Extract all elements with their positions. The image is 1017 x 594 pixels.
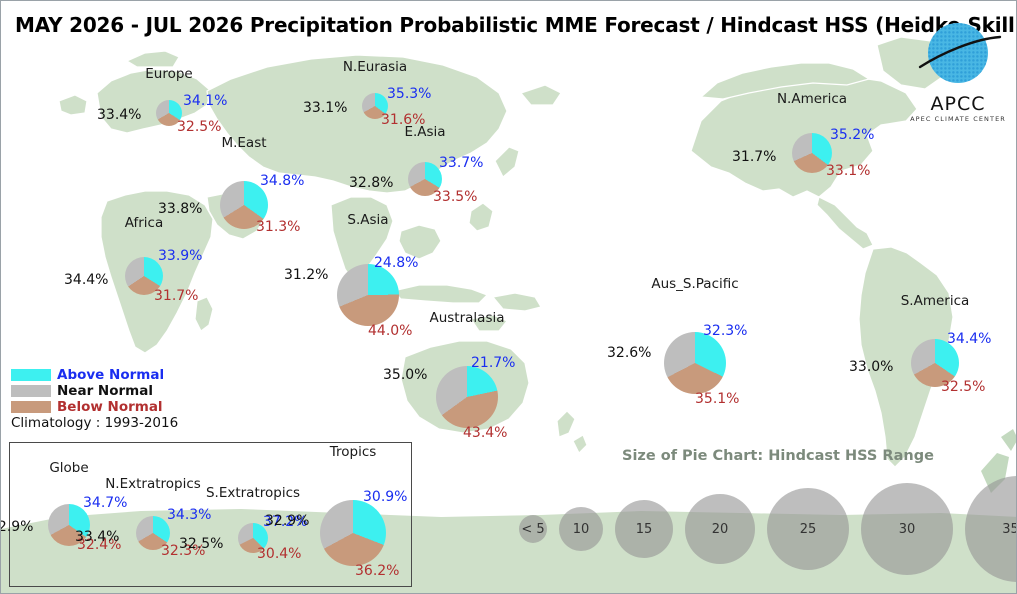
value-near-n_extratropics: 33.4%	[75, 529, 119, 545]
value-below-australasia: 43.4%	[463, 425, 507, 441]
size-scale-label-1: 10	[573, 522, 590, 537]
region-pie-africa[interactable]: Africa33.9%34.4%31.7%	[125, 257, 163, 295]
size-scale-label-6: 35 ≤	[1002, 522, 1017, 537]
value-near-n_america: 31.7%	[732, 149, 776, 165]
value-near-s_extratropics: 32.5%	[179, 536, 223, 552]
legend-label-near: Near Normal	[57, 383, 153, 399]
pie-australasia	[436, 366, 498, 428]
region-pie-e_asia[interactable]: E.Asia33.7%32.8%33.5%	[408, 162, 442, 196]
value-below-europe: 32.5%	[177, 119, 221, 135]
size-scale-circle-1: 10	[559, 507, 603, 551]
region-label-globe: Globe	[49, 460, 88, 476]
legend-row-above: Above Normal	[11, 367, 178, 382]
apcc-logo-wordmark: APCC	[908, 93, 1008, 115]
apcc-globe-icon	[908, 19, 1008, 91]
region-pie-tropics[interactable]: Tropics30.9%32.9%36.2%	[320, 500, 386, 566]
value-near-globe: 32.9%	[0, 519, 33, 535]
value-near-africa: 34.4%	[64, 272, 108, 288]
region-label-n_eurasia: N.Eurasia	[343, 59, 407, 75]
value-above-n_eurasia: 35.3%	[387, 86, 431, 102]
value-above-australasia: 21.7%	[471, 355, 515, 371]
region-pie-n_eurasia[interactable]: N.Eurasia35.3%33.1%31.6%	[362, 93, 388, 119]
value-near-e_asia: 32.8%	[349, 175, 393, 191]
region-pie-australasia[interactable]: Australasia21.7%35.0%43.4%	[436, 366, 498, 428]
legend-row-near: Near Normal	[11, 383, 178, 398]
legend-row-below: Below Normal	[11, 399, 178, 414]
region-label-australasia: Australasia	[429, 310, 504, 326]
value-near-n_eurasia: 33.1%	[303, 100, 347, 116]
value-near-europe: 33.4%	[97, 107, 141, 123]
apcc-logo-subtitle: APEC CLIMATE CENTER	[908, 115, 1008, 123]
value-below-s_asia: 44.0%	[368, 323, 412, 339]
value-near-australasia: 35.0%	[383, 367, 427, 383]
size-scale-label-3: 20	[712, 522, 729, 537]
pie-s_asia	[337, 264, 399, 326]
region-label-aus_s_pacific: Aus_S.Pacific	[651, 276, 738, 292]
size-scale-label-2: 15	[636, 522, 653, 537]
value-near-aus_s_pacific: 32.6%	[607, 345, 651, 361]
legend-swatch-below	[11, 401, 51, 413]
value-above-globe: 34.7%	[83, 495, 127, 511]
legend-swatch-near	[11, 385, 51, 397]
legend-swatch-above	[11, 369, 51, 381]
size-scale-label-5: 30	[899, 522, 916, 537]
apcc-logo: APCC APEC CLIMATE CENTER	[908, 19, 1008, 131]
value-above-s_asia: 24.8%	[374, 255, 418, 271]
size-scale-title: Size of Pie Chart: Hindcast HSS Range	[622, 448, 934, 464]
value-below-m_east: 31.3%	[256, 219, 300, 235]
size-scale-circle-2: 15	[615, 500, 673, 558]
region-pie-n_extratropics[interactable]: N.Extratropics34.3%33.4%32.3%	[136, 516, 170, 550]
value-above-n_extratropics: 34.3%	[167, 507, 211, 523]
region-pie-europe[interactable]: Europe34.1%33.4%32.5%	[156, 100, 182, 126]
legend-label-below: Below Normal	[57, 399, 163, 415]
region-label-e_asia: E.Asia	[404, 124, 445, 140]
value-above-europe: 34.1%	[183, 93, 227, 109]
value-above-m_east: 34.8%	[260, 173, 304, 189]
value-above-n_america: 35.2%	[830, 127, 874, 143]
size-scale-circle-4: 25	[767, 488, 849, 570]
value-near-m_east: 33.8%	[158, 201, 202, 217]
region-pie-s_america[interactable]: S.America34.4%33.0%32.5%	[911, 339, 959, 387]
size-scale-circle-3: 20	[685, 494, 755, 564]
region-label-africa: Africa	[125, 215, 164, 231]
value-near-tropics: 32.9%	[265, 513, 309, 529]
size-scale-label-4: 25	[800, 522, 817, 537]
climatology-note: Climatology : 1993-2016	[11, 415, 178, 431]
region-label-s_asia: S.Asia	[347, 212, 388, 228]
region-pie-aus_s_pacific[interactable]: Aus_S.Pacific32.3%32.6%35.1%	[664, 332, 726, 394]
region-label-n_extratropics: N.Extratropics	[105, 476, 201, 492]
value-below-s_extratropics: 30.4%	[257, 546, 301, 562]
region-pie-m_east[interactable]: M.East34.8%33.8%31.3%	[220, 181, 268, 229]
legend-label-above: Above Normal	[57, 367, 164, 383]
region-label-s_america: S.America	[901, 293, 970, 309]
value-below-n_america: 33.1%	[826, 163, 870, 179]
value-below-africa: 31.7%	[154, 288, 198, 304]
forecast-map-figure: MAY 2026 - JUL 2026 Precipitation Probab…	[0, 0, 1017, 594]
pie-aus_s_pacific	[664, 332, 726, 394]
value-above-aus_s_pacific: 32.3%	[703, 323, 747, 339]
size-scale-label-0: < 5	[521, 522, 544, 537]
region-label-m_east: M.East	[221, 135, 266, 151]
value-above-africa: 33.9%	[158, 248, 202, 264]
value-near-s_america: 33.0%	[849, 359, 893, 375]
region-label-tropics: Tropics	[330, 444, 377, 460]
region-pie-s_asia[interactable]: S.Asia24.8%31.2%44.0%	[337, 264, 399, 326]
value-below-aus_s_pacific: 35.1%	[695, 391, 739, 407]
value-below-e_asia: 33.5%	[433, 189, 477, 205]
region-pie-s_extratropics[interactable]: S.Extratropics37.2%32.5%30.4%	[238, 523, 268, 553]
value-near-s_asia: 31.2%	[284, 267, 328, 283]
pie-tropics	[320, 500, 386, 566]
size-scale-circle-5: 30	[861, 483, 953, 575]
value-below-s_america: 32.5%	[941, 379, 985, 395]
value-above-s_america: 34.4%	[947, 331, 991, 347]
page-title: MAY 2026 - JUL 2026 Precipitation Probab…	[15, 13, 1017, 37]
value-above-tropics: 30.9%	[363, 489, 407, 505]
region-pie-n_america[interactable]: N.America35.2%31.7%33.1%	[792, 133, 832, 173]
value-below-tropics: 36.2%	[355, 563, 399, 579]
region-label-s_extratropics: S.Extratropics	[206, 485, 300, 501]
region-label-europe: Europe	[145, 66, 192, 82]
region-label-n_america: N.America	[777, 91, 847, 107]
category-legend: Above Normal Near Normal Below Normal Cl…	[11, 367, 178, 431]
value-above-e_asia: 33.7%	[439, 155, 483, 171]
size-scale-circle-0: < 5	[519, 515, 547, 543]
